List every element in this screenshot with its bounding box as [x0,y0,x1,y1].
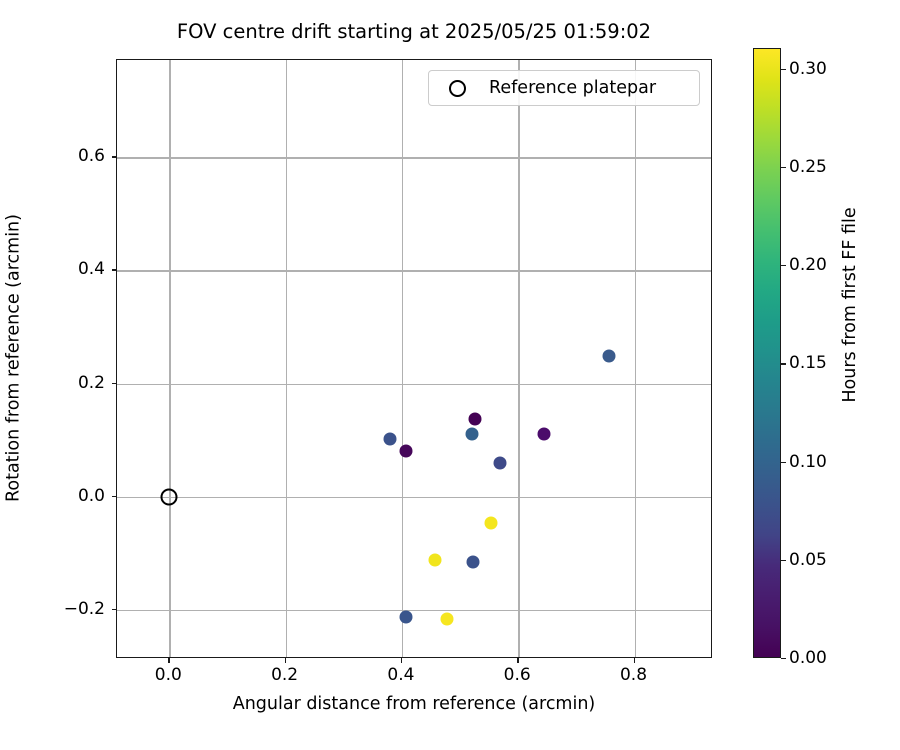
x-tick-mark [634,658,635,663]
y-tick-label: 0.2 [78,373,105,393]
y-tick-label: 0.6 [78,146,105,166]
x-tick-mark [168,658,169,663]
colorbar-tick-mark [781,560,786,561]
scatter-point [399,445,412,458]
reference-platepar-marker [161,488,178,505]
colorbar-tick-mark [781,363,786,364]
colorbar-tick-label: 0.30 [789,59,827,79]
y-tick-mark [112,269,117,270]
colorbar-tick-label: 0.25 [789,157,827,177]
open-circle-marker-icon [449,80,466,97]
legend[interactable]: Reference platepar [428,70,700,106]
colorbar-tick-label: 0.20 [789,255,827,275]
scatter-point [538,427,551,440]
colorbar-tick-mark [781,265,786,266]
scatter-point [465,428,478,441]
y-tick-mark [112,609,117,610]
y-tick-mark [112,383,117,384]
colorbar-label: Hours from first FF file [837,0,863,610]
x-tick-mark [401,658,402,663]
figure-canvas: FOV centre drift starting at 2025/05/25 … [0,0,900,750]
x-tick-label: 0.8 [620,665,647,685]
scatter-points-layer [117,60,711,657]
colorbar-tick-mark [781,167,786,168]
scatter-point [384,432,397,445]
y-tick-label: 0.0 [78,486,105,506]
y-tick-label: 0.4 [78,259,105,279]
x-tick-label: 0.2 [271,665,298,685]
x-tick-label: 0.4 [387,665,414,685]
colorbar-tick-mark [781,69,786,70]
x-axis-label: Angular distance from reference (arcmin) [116,694,712,714]
legend-item-label: Reference platepar [489,78,656,98]
y-tick-label: −0.2 [64,599,105,619]
colorbar-gradient [753,48,781,658]
scatter-point [493,456,506,469]
page-title: FOV centre drift starting at 2025/05/25 … [116,22,712,42]
y-tick-mark [112,156,117,157]
colorbar [753,48,781,658]
colorbar-tick-label: 0.00 [789,648,827,668]
colorbar-tick-label: 0.05 [789,550,827,570]
scatter-point [399,610,412,623]
scatter-point [603,350,616,363]
x-tick-label: 0.0 [155,665,182,685]
x-tick-mark [517,658,518,663]
y-tick-mark [112,496,117,497]
scatter-point [440,613,453,626]
scatter-point [466,555,479,568]
scatter-point [429,554,442,567]
x-tick-mark [285,658,286,663]
colorbar-tick-label: 0.15 [789,353,827,373]
scatter-point [468,412,481,425]
colorbar-tick-mark [781,658,786,659]
scatter-point [484,516,497,529]
plot-axes-area [116,59,712,658]
colorbar-tick-label: 0.10 [789,452,827,472]
x-tick-label: 0.6 [504,665,531,685]
y-axis-label: Rotation from reference (arcmin) [1,59,27,658]
colorbar-tick-mark [781,462,786,463]
